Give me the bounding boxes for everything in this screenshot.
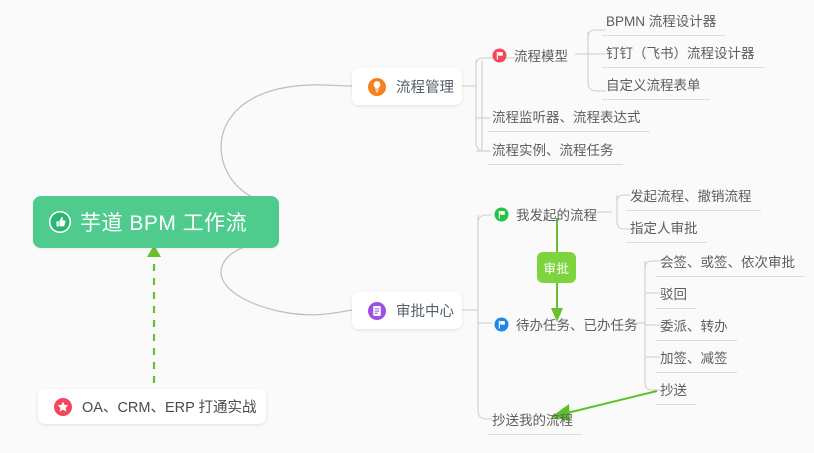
lightbulb-icon <box>366 76 388 98</box>
root-label: 芋道 BPM 工作流 <box>80 207 247 237</box>
topic-node-process-management[interactable]: 流程管理 <box>352 68 462 105</box>
topic-node-approval-center[interactable]: 审批中心 <box>352 292 462 329</box>
leaf-node[interactable]: 流程实例、流程任务 <box>488 140 623 165</box>
leaf-node[interactable]: 委派、转办 <box>656 316 737 341</box>
flag-icon <box>494 317 509 332</box>
thumbs-up-icon <box>49 211 71 233</box>
branch-label-todo-done: 待办任务、已办任务 <box>516 314 638 334</box>
topic-label-process-management: 流程管理 <box>396 76 454 97</box>
root-node[interactable]: 芋道 BPM 工作流 <box>33 196 279 248</box>
leaf-node[interactable]: 钉钉（飞书）流程设计器 <box>602 43 764 68</box>
leaf-node[interactable]: 流程监听器、流程表达式 <box>488 107 650 132</box>
leaf-node[interactable]: 发起流程、撤销流程 <box>626 186 761 211</box>
approval-tag[interactable]: 审批 <box>537 252 576 283</box>
leaf-node[interactable]: 指定人审批 <box>626 218 707 243</box>
leaf-node[interactable]: 抄送我的流程 <box>488 410 582 435</box>
branch-label-process-model: 流程模型 <box>514 45 568 65</box>
leaf-node[interactable]: 自定义流程表单 <box>602 75 710 100</box>
leaf-node[interactable]: 抄送 <box>656 380 696 405</box>
mindmap-canvas: 芋道 BPM 工作流 OA、CRM、ERP 打通实战 流程管理 <box>0 0 814 453</box>
leaf-node[interactable]: 会签、或签、依次审批 <box>656 252 804 277</box>
flag-icon <box>492 48 507 63</box>
approval-tag-label: 审批 <box>543 258 569 277</box>
branch-node-todo-done[interactable]: 待办任务、已办任务 <box>494 314 638 334</box>
branch-label-my-initiated: 我发起的流程 <box>516 204 597 224</box>
branch-node-process-model[interactable]: 流程模型 <box>492 45 568 65</box>
bottom-card-node[interactable]: OA、CRM、ERP 打通实战 <box>38 389 266 424</box>
branch-node-my-initiated[interactable]: 我发起的流程 <box>494 204 597 224</box>
clipboard-icon <box>366 300 388 322</box>
topic-label-approval-center: 审批中心 <box>396 300 454 321</box>
bottom-card-label: OA、CRM、ERP 打通实战 <box>82 396 257 417</box>
leaf-node[interactable]: BPMN 流程设计器 <box>602 11 725 36</box>
leaf-node[interactable]: 加签、减签 <box>656 348 737 373</box>
star-icon <box>52 396 74 418</box>
leaf-node[interactable]: 驳回 <box>656 284 696 309</box>
flag-icon <box>494 207 509 222</box>
